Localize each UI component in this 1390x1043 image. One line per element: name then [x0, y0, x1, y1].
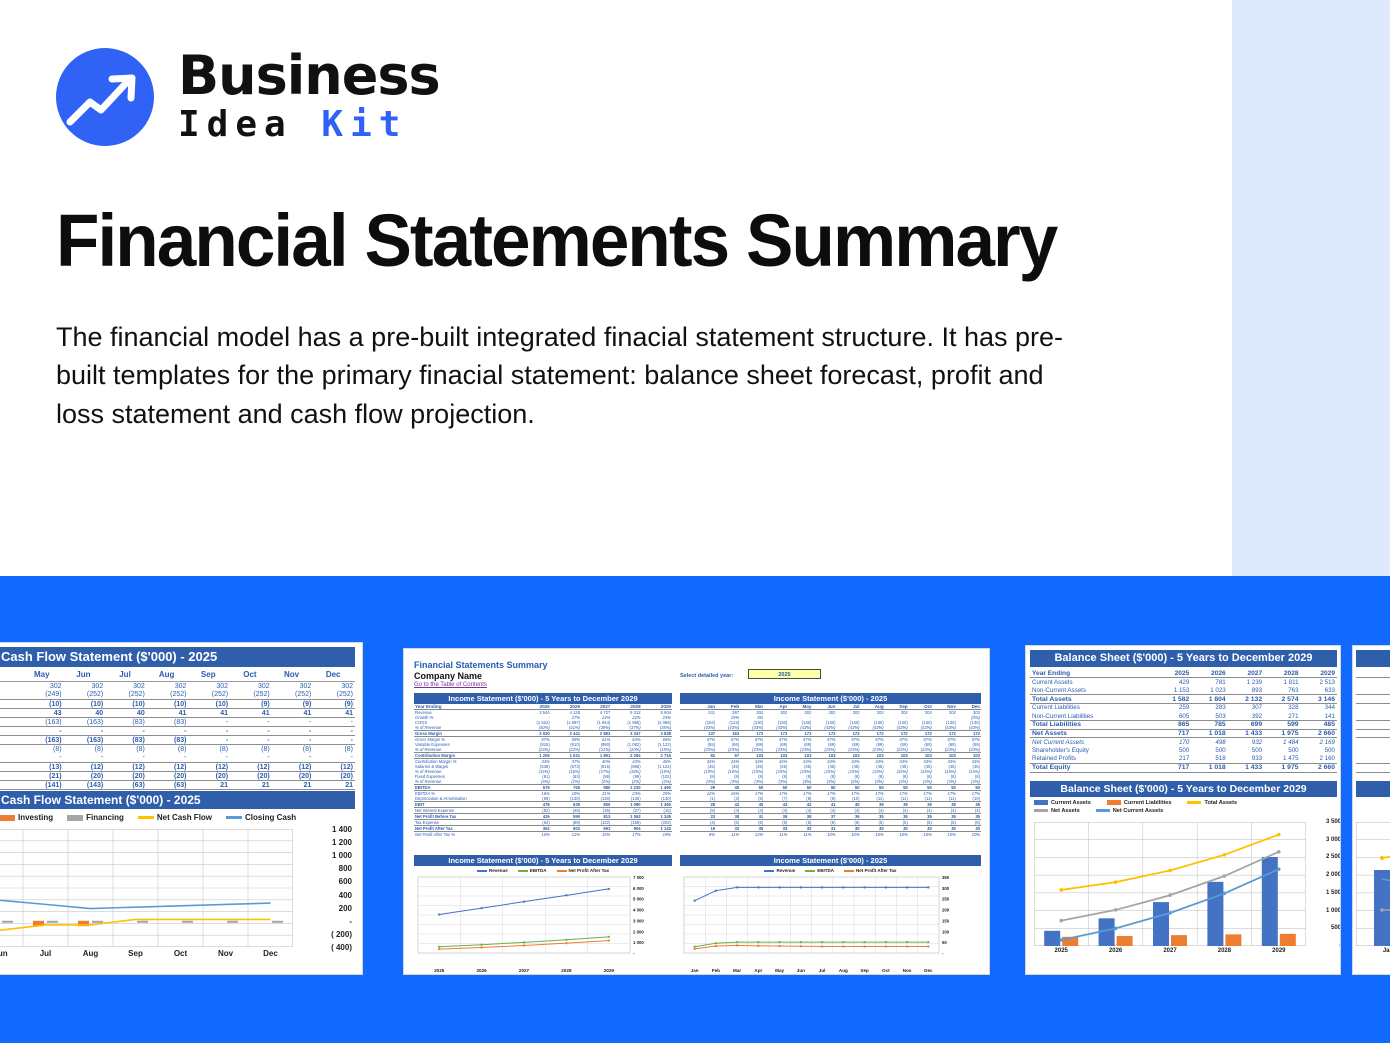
y-tick: -	[1339, 943, 1341, 949]
row-label: Total Equity	[1030, 764, 1155, 773]
legend-label: Net Current Assets	[1113, 808, 1163, 814]
x-tick: 2027	[1143, 948, 1197, 954]
brand-name-accent: Kit	[321, 104, 407, 145]
monthly-income-chart-title: Income Statement ($'000) - 2025	[680, 855, 981, 866]
legend-item: Investing	[0, 813, 53, 822]
x-tick: Oct	[158, 949, 203, 958]
cash-flow-col-aug: Aug	[147, 669, 189, 682]
y-tick: 1 200	[332, 838, 352, 847]
legend-swatch	[518, 870, 528, 872]
table-row: Contribution Margin1 2051 5311 8912 2842…	[414, 753, 672, 759]
row-label: Non-Current Assets	[1030, 686, 1155, 695]
table-row: 1 174	[1356, 678, 1390, 687]
table-row: 500	[1356, 746, 1390, 755]
cash-flow-col-may: May	[22, 669, 64, 682]
table-row: 93	[1356, 703, 1390, 712]
cash-flow-chart-y-axis: 1 4001 2001 000800600400200-( 200)( 400)	[298, 825, 354, 951]
select-year-input[interactable]: 2025	[748, 669, 821, 679]
cash-flow-table-title: Cash Flow Statement ($'000) - 2025	[0, 647, 355, 667]
cash-flow-col-dec: Dec	[313, 669, 355, 682]
far-panel-title-bar	[1356, 650, 1390, 667]
cash-flow-col-jun: Jun	[64, 669, 106, 682]
legend-item: Net Current Assets	[1096, 808, 1163, 814]
row-label: Current Assets	[1030, 678, 1155, 687]
x-tick: Mar	[727, 968, 748, 973]
legend-swatch	[138, 816, 154, 819]
brand-name-primary: Business	[178, 49, 440, 103]
table-row: --------	[0, 727, 355, 736]
table-row: Net Assets7171 0181 4331 9752 660	[1030, 729, 1337, 738]
x-tick: 2027	[503, 968, 545, 973]
x-tick: 2028	[1197, 948, 1251, 954]
legend-swatch	[764, 870, 774, 872]
table-row: (21)(20)(20)(20)(20)(20)(20)(20)	[0, 772, 355, 781]
table-row: Jan	[1356, 669, 1390, 678]
legend-swatch	[557, 870, 567, 872]
y-tick: 250	[942, 897, 950, 902]
table-row: Retained Profits2175189331 4752 160	[1030, 755, 1337, 764]
y-tick: 150	[942, 918, 950, 923]
hero-accent-panel	[1232, 0, 1390, 576]
table-row: (163)(163)(83)(83)----	[0, 736, 355, 745]
cash-flow-col-jul: Jul	[105, 669, 147, 682]
legend-swatch	[0, 815, 15, 821]
table-row: Non-Current Assets1 1531 023893763633	[1030, 686, 1337, 695]
table-row: Current Assets4297811 2391 8112 513	[1030, 678, 1337, 687]
financial-summary-screenshot-panel[interactable]: Financial Statements Summary Company Nam…	[403, 648, 990, 975]
legend-item: Current Liabilities	[1107, 800, 1172, 806]
balance-sheet-monthly-screenshot-panel[interactable]: Jan1 1741241 297936927865121 08150012512…	[1352, 645, 1390, 975]
table-row: (163)(163)(83)(83)----	[0, 718, 355, 727]
x-tick: 2025	[418, 968, 460, 973]
y-tick: 3 000	[633, 918, 644, 923]
row-label: Non-Current Liabilities	[1030, 712, 1155, 721]
x-tick: May	[769, 968, 790, 973]
balance-sheet-chart-x-axis: 20252026202720282029	[1034, 948, 1306, 954]
legend-swatch	[805, 870, 815, 872]
table-row: 786	[1356, 721, 1390, 730]
legend-item: Closing Cash	[226, 813, 296, 822]
table-row: (141)(143)(63)(63)21212121	[0, 781, 355, 790]
y-tick: 2 000	[633, 929, 644, 934]
table-row: (8)(8)(8)(8)(8)(8)(8)(8)	[0, 745, 355, 754]
x-tick: Aug	[68, 949, 113, 958]
balance-sheet-table: Year Ending20252026202720282029Current A…	[1030, 669, 1337, 773]
x-tick: Sep	[854, 968, 875, 973]
cash-flow-screenshot-panel[interactable]: Cash Flow Statement ($'000) - 2025 MayJu…	[0, 642, 363, 975]
chart-arrow-up-icon	[56, 48, 154, 146]
table-row: Net Profit After Tax3625026919041 143	[414, 826, 672, 832]
table-of-contents-link[interactable]: Go to the Table of Contents	[414, 682, 487, 688]
annual-income-statement-title: Income Statement ($'000) - 5 Years to De…	[414, 693, 672, 704]
annual-income-chart-title: Income Statement ($'000) - 5 Years to De…	[414, 855, 672, 866]
y-tick: 5 000	[633, 897, 644, 902]
table-row: 124	[1356, 686, 1390, 695]
legend-item: Current Assets	[1034, 800, 1091, 806]
legend-label: Investing	[18, 813, 53, 822]
page-description: The financial model has a pre-built inte…	[56, 318, 1096, 433]
y-tick: 350	[942, 875, 950, 880]
table-row: 692	[1356, 712, 1390, 721]
select-year-label: Select detailed year:	[680, 673, 733, 679]
table-row: Total Liabilities865785699599485	[1030, 721, 1337, 730]
balance-sheet-chart-plot	[1034, 822, 1306, 946]
x-tick: Oct	[875, 968, 896, 973]
row-label: Shareholder's Equity	[1030, 746, 1155, 755]
legend-item: Net Cash Flow	[138, 813, 212, 822]
table-row: Current Liabilities259283307328344	[1030, 703, 1337, 712]
y-tick: 1 000	[1326, 908, 1341, 914]
table-row: 1 081	[1356, 738, 1390, 747]
y-tick: 1 000	[332, 851, 352, 860]
y-tick: 1 500	[1326, 890, 1341, 896]
y-tick: 7 000	[633, 875, 644, 880]
legend-item: Net Assets	[1034, 808, 1080, 814]
table-row: 302302302302302302302302	[0, 682, 355, 691]
table-row: Depreciation & Amortisation(98)(130)(130…	[414, 796, 672, 802]
y-tick: 800	[339, 864, 352, 873]
y-tick: 50	[942, 940, 947, 945]
legend-label: Net Cash Flow	[157, 813, 212, 822]
legend-label: Current Liabilities	[1124, 800, 1172, 806]
company-name: Company Name	[414, 671, 482, 681]
y-tick: 6 000	[633, 886, 644, 891]
x-tick: Jun	[0, 949, 23, 958]
table-row: (13)(12)(12)(12)(12)(12)(12)(12)	[0, 763, 355, 772]
balance-sheet-chart-y-axis: 3 5003 0002 5002 0001 5001 000500-	[1308, 818, 1341, 950]
far-panel-x-axis: Jan	[1356, 948, 1390, 954]
legend-item: Financing	[67, 813, 124, 822]
annual-income-chart-block: Income Statement ($'000) - 5 Years to De…	[414, 855, 672, 973]
cash-flow-chart-title: Cash Flow Statement ($'000) - 2025	[0, 791, 355, 809]
balance-sheet-chart-legend: Current AssetsCurrent LiabilitiesTotal A…	[1034, 800, 1334, 816]
y-tick: 1 000	[633, 940, 644, 945]
summary-heading: Financial Statements Summary	[414, 660, 548, 670]
cash-flow-col-sep: Sep	[188, 669, 230, 682]
legend-swatch	[844, 870, 854, 872]
hero-section: Business Idea Kit Financial Statements S…	[0, 0, 1390, 576]
y-tick: 500	[1331, 925, 1341, 931]
row-label: Total Liabilities	[1030, 721, 1155, 730]
row-label: Total Assets	[1030, 695, 1155, 704]
monthly-income-statement-table: JanFebMarAprMayJunJulAugSepOctNovDec2412…	[680, 704, 981, 837]
legend-swatch	[1034, 800, 1048, 805]
cash-flow-col-nov: Nov	[272, 669, 314, 682]
y-tick: 2 500	[1326, 854, 1341, 860]
table-row: Non-Current Liabilities605503392271141	[1030, 712, 1337, 721]
table-row: Net Profit Before Tax4265908131 0631 345	[414, 814, 672, 820]
x-tick: Dec	[248, 949, 293, 958]
table-row: 12	[1356, 755, 1390, 764]
far-panel-chart-plot	[1356, 822, 1390, 946]
y-tick: ( 200)	[331, 930, 352, 939]
legend-label: Net Assets	[1051, 808, 1080, 814]
far-panel-table: Jan1 1741241 297936927865121 08150012512	[1356, 669, 1390, 773]
table-row: (249)(252)(252)(252)(252)(252)(252)(252)	[0, 691, 355, 700]
legend-label: Closing Cash	[245, 813, 296, 822]
x-tick: Aug	[833, 968, 854, 973]
x-tick: 2026	[460, 968, 502, 973]
legend-swatch	[1187, 801, 1201, 804]
brand-logo: Business Idea Kit	[56, 48, 440, 146]
row-label: Retained Profits	[1030, 755, 1155, 764]
x-tick: 2029	[1252, 948, 1306, 954]
y-tick: 600	[339, 877, 352, 886]
cash-flow-chart-x-axis: MayJunJulAugSepOctNovDec	[0, 949, 293, 958]
legend-item: Total Assets	[1187, 800, 1237, 806]
table-row: 8%11%12%11%11%10%10%10%10%10%10%10%	[680, 832, 981, 838]
cash-flow-col-oct: Oct	[230, 669, 272, 682]
table-row: (10)(10)(10)(10)(10)(9)(9)(9)	[0, 700, 355, 709]
y-tick: -	[633, 951, 635, 956]
y-tick: 2 000	[1326, 872, 1341, 878]
x-tick: Apr	[748, 968, 769, 973]
table-row: Net Current Assets1704989321 4842 169	[1030, 738, 1337, 747]
x-tick: Jul	[23, 949, 68, 958]
x-tick: Jan	[684, 968, 705, 973]
y-tick: 300	[942, 886, 950, 891]
legend-swatch	[226, 816, 242, 819]
legend-swatch	[1034, 809, 1048, 812]
table-row: 1 297	[1356, 695, 1390, 704]
y-tick: 100	[942, 929, 950, 934]
legend-swatch	[1096, 809, 1110, 812]
row-label: Year Ending	[1030, 669, 1155, 678]
legend-swatch	[477, 870, 487, 872]
monthly-income-chart-x-axis: JanFebMarAprMayJunJulAugSepOctNovDec	[684, 968, 939, 973]
legend-swatch	[1107, 800, 1121, 805]
annual-income-statement-block: Income Statement ($'000) - 5 Years to De…	[414, 693, 672, 837]
monthly-income-statement-title: Income Statement ($'000) - 2025	[680, 693, 981, 704]
table-row: Total Equity7171 0181 4331 9752 660	[1030, 764, 1337, 773]
y-tick: 4 000	[633, 908, 644, 913]
y-tick: 400	[339, 891, 352, 900]
monthly-income-chart-plot: 35030025020015010050-	[680, 873, 981, 963]
cash-flow-table: MayJunJulAugSepOctNovDec3023023023023023…	[0, 669, 355, 799]
table-row: Total Assets1 5821 8042 1322 5743 146	[1030, 695, 1337, 704]
monthly-income-chart-block: Income Statement ($'000) - 2025 RevenueE…	[680, 855, 981, 973]
y-tick: 200	[339, 904, 352, 913]
monthly-income-statement-block: Income Statement ($'000) - 2025 JanFebMa…	[680, 693, 981, 837]
legend-label: Total Assets	[1204, 800, 1237, 806]
legend-row: Net AssetsNet Current Assets	[1034, 808, 1334, 814]
y-tick: -	[349, 917, 352, 926]
legend-label: Current Assets	[1051, 800, 1091, 806]
legend-label: Financing	[86, 813, 124, 822]
cash-flow-chart-legend: InvestingFinancingNet Cash FlowClosing C…	[0, 813, 349, 822]
cash-flow-chart-plot	[0, 829, 293, 947]
y-tick: 3 000	[1326, 837, 1341, 843]
legend-swatch	[67, 815, 83, 821]
balance-sheet-screenshot-panel[interactable]: Balance Sheet ($'000) - 5 Years to Decem…	[1025, 645, 1341, 975]
annual-income-statement-table: Year Ending20252026202720282029Revenue3 …	[414, 704, 672, 837]
y-tick: 3 500	[1326, 819, 1341, 825]
y-tick: -	[942, 951, 944, 956]
row-label: Net Assets	[1030, 729, 1155, 738]
x-tick: Nov	[897, 968, 918, 973]
y-tick: 200	[942, 908, 950, 913]
table-row: Net Interest Expense(52)(45)(36)(27)(15)	[414, 808, 672, 814]
table-row: Shareholder's Equity500500500500500	[1030, 746, 1337, 755]
x-tick: Sep	[113, 949, 158, 958]
x-tick: Feb	[705, 968, 726, 973]
row-label: Current Liabilities	[1030, 703, 1155, 712]
balance-sheet-chart-title: Balance Sheet ($'000) - 5 Years to Decem…	[1030, 781, 1337, 797]
table-row: --------	[0, 754, 355, 763]
x-tick: Nov	[203, 949, 248, 958]
table-row: Year Ending20252026202720282029	[1030, 669, 1337, 678]
annual-income-chart-x-axis: 20252026202720282029	[418, 968, 630, 973]
row-label: Net Current Assets	[1030, 738, 1155, 747]
y-tick: ( 400)	[331, 943, 352, 952]
table-row: 4340404141414141	[0, 709, 355, 718]
x-tick: Jun	[790, 968, 811, 973]
x-tick: Jul	[812, 968, 833, 973]
annual-income-chart-plot: 7 0006 0005 0004 0003 0002 0001 000-	[414, 873, 672, 963]
legend-row: Current AssetsCurrent LiabilitiesTotal A…	[1034, 800, 1334, 806]
table-row: Net Profit After Tax %10%12%15%17%19%	[414, 832, 672, 838]
x-tick: 2026	[1088, 948, 1142, 954]
y-tick: 1 400	[332, 825, 352, 834]
table-row: 512	[1356, 764, 1390, 773]
brand-name-secondary: Idea	[178, 104, 293, 145]
x-tick: Dec	[918, 968, 939, 973]
x-tick: 2025	[1034, 948, 1088, 954]
page-title: Financial Statements Summary	[56, 198, 1056, 283]
table-row: 512	[1356, 729, 1390, 738]
x-tick: 2029	[588, 968, 630, 973]
far-panel-chart-title-bar	[1356, 781, 1390, 797]
balance-sheet-table-title: Balance Sheet ($'000) - 5 Years to Decem…	[1030, 650, 1337, 667]
cash-flow-table-header: MayJunJulAugSepOctNovDec	[0, 669, 355, 682]
x-tick: 2028	[545, 968, 587, 973]
